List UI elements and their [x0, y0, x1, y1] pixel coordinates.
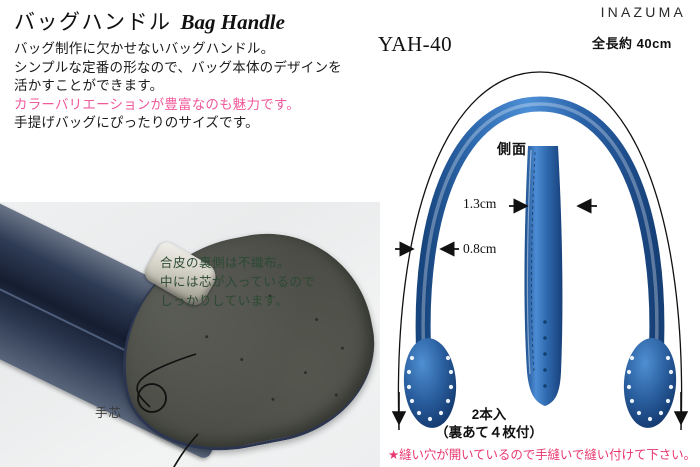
side-view-label: 側面 — [497, 139, 527, 159]
product-info-page: バッグハンドル Bag Handle バッグ制作に欠かせないバッグハンドル。 シ… — [0, 0, 700, 467]
handle-side-view — [524, 146, 562, 406]
sewing-warning-note: ★縫い穴が開いているので手縫いで縫い付けて下さい。 — [388, 444, 696, 463]
quantity-info: 2本入 （裏あて４枚付） — [435, 406, 543, 442]
measure-width-label: 1.3cm — [463, 196, 496, 212]
quantity-line-1: 2本入 — [435, 406, 543, 424]
quantity-line-2: （裏あて４枚付） — [435, 424, 543, 442]
handle-end-right — [621, 336, 679, 429]
handle-diagram — [0, 0, 700, 467]
measure-thickness-label: 0.8cm — [463, 241, 496, 257]
